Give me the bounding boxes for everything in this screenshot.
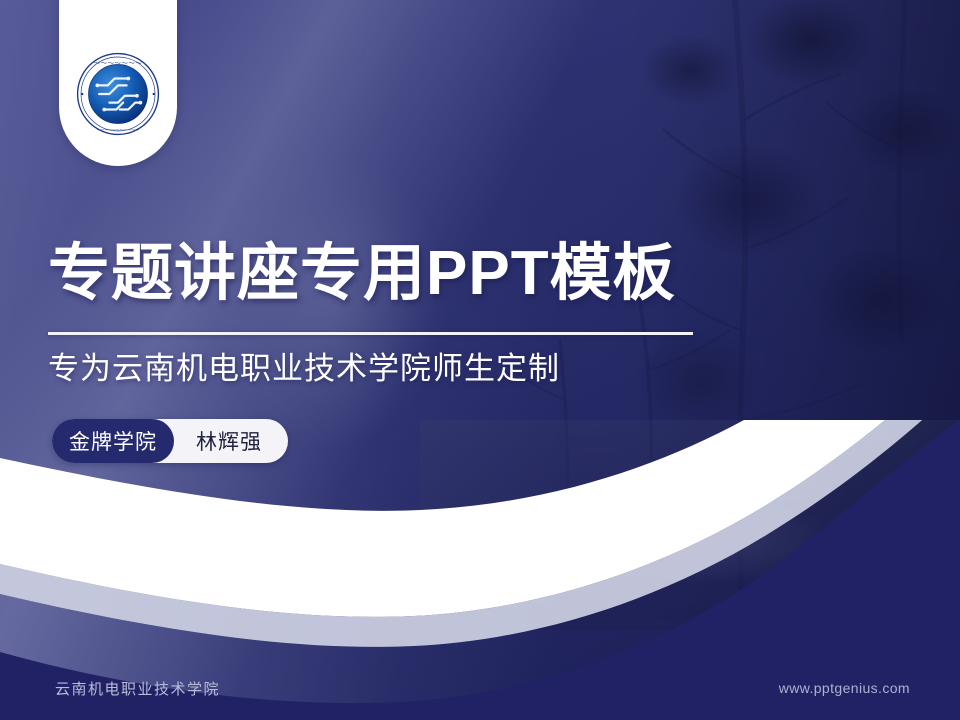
footer-institution: 云南机电职业技术学院 bbox=[55, 678, 220, 699]
svg-text:〜〜〜〜〜〜〜〜〜〜〜: 〜〜〜〜〜〜〜〜〜〜〜 bbox=[97, 128, 140, 132]
svg-text:〜〜〜〜〜〜〜: 〜〜〜〜〜〜〜 bbox=[94, 60, 143, 67]
university-emblem-icon: 〜〜〜〜〜〜〜 〜〜〜〜〜〜〜〜〜〜〜 bbox=[75, 51, 161, 137]
slide-subtitle: 专为云南机电职业技术学院师生定制 bbox=[48, 348, 560, 390]
slide-title: 专题讲座专用PPT模板 bbox=[48, 243, 676, 305]
footer-website[interactable]: www.pptgenius.com bbox=[779, 680, 910, 696]
presentation-cover-slide: 〜〜〜〜〜〜〜 〜〜〜〜〜〜〜〜〜〜〜 专题讲座专用PPT模板 专为云南机电职业… bbox=[0, 0, 960, 720]
title-divider-rule bbox=[48, 332, 693, 335]
bottom-wave-decoration bbox=[0, 420, 960, 720]
logo-plate: 〜〜〜〜〜〜〜 〜〜〜〜〜〜〜〜〜〜〜 bbox=[59, 0, 177, 166]
